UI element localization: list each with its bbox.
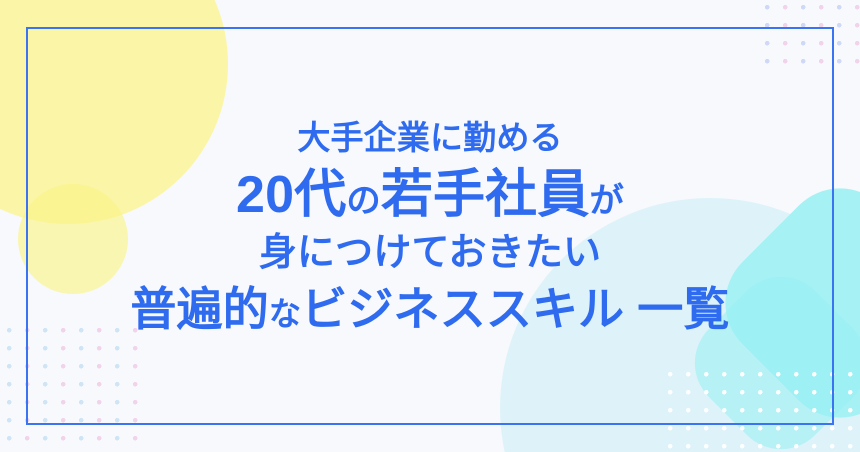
headline-line-2-part-c: 若手社員 xyxy=(381,166,590,224)
headline-line-2-part-a: 20代 xyxy=(236,166,346,224)
headline-line-3: 身につけておきたい xyxy=(259,234,601,272)
headline-line-2: 20代の若手社員が xyxy=(236,169,624,221)
headline-line-4: 普遍的なビジネススキル 一覧 xyxy=(130,286,729,332)
headline-line-2-part-b: の xyxy=(346,182,380,220)
banner-graphic: 大手企業に勤める 20代の若手社員が 身につけておきたい 普遍的なビジネススキル… xyxy=(0,0,860,452)
headline-line-2-part-d: が xyxy=(589,182,623,220)
headline-line-1: 大手企業に勤める xyxy=(297,121,562,154)
headline-line-4-part-b: な xyxy=(269,296,301,332)
headline-line-3-text: 身につけておきたい xyxy=(259,232,601,274)
headline-block: 大手企業に勤める 20代の若手社員が 身につけておきたい 普遍的なビジネススキル… xyxy=(0,0,860,452)
headline-line-1-text: 大手企業に勤める xyxy=(297,119,562,156)
headline-line-4-part-c: ビジネススキル 一覧 xyxy=(301,283,729,335)
headline-line-4-part-a: 普遍的 xyxy=(130,283,268,335)
